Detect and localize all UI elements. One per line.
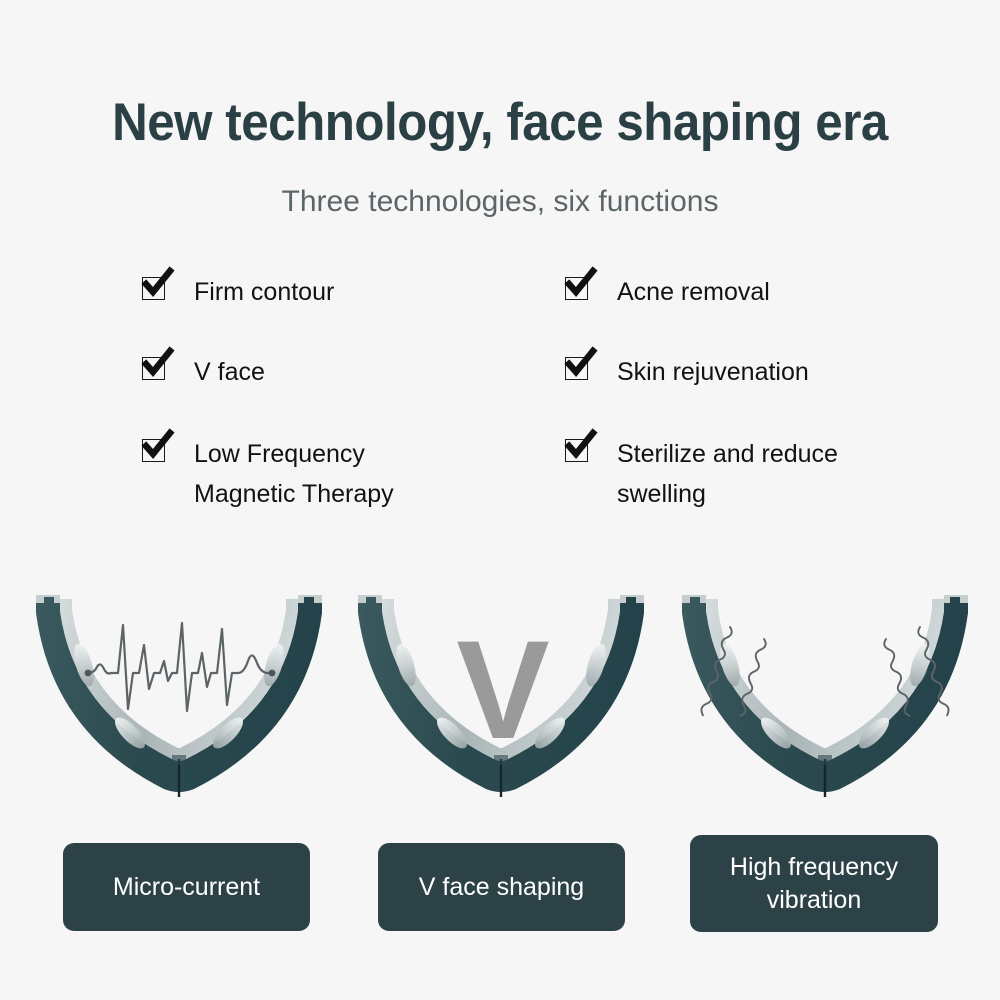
caption-v-face-shaping[interactable]: V face shaping (378, 843, 625, 931)
caption-micro-current[interactable]: Micro-current (63, 843, 310, 931)
caption-row: Micro-current V face shaping High freque… (0, 0, 1000, 1000)
caption-high-frequency-vibration[interactable]: High frequency vibration (690, 835, 938, 932)
